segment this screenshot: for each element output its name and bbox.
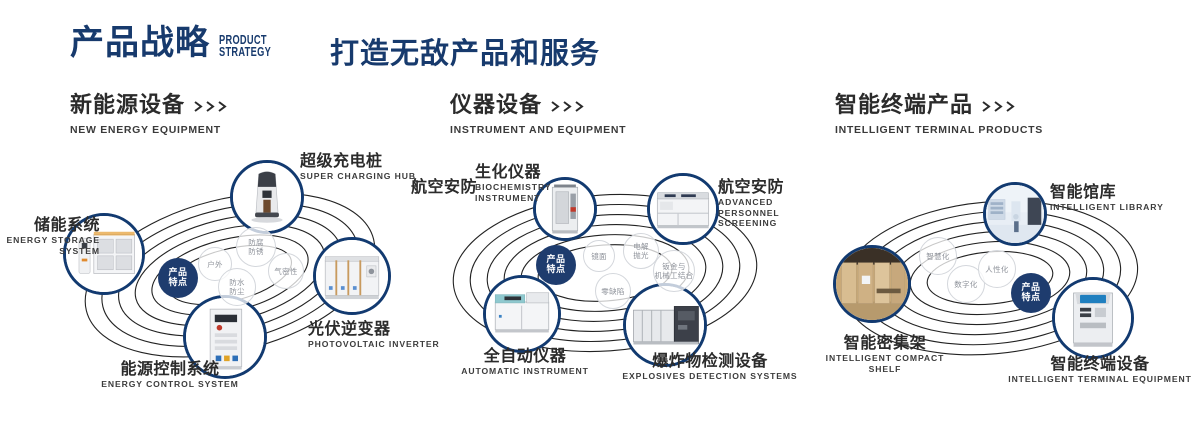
feature-badge[interactable]: 产品 特点 — [158, 258, 198, 298]
section-header-intelligent-terminal: 智能终端产品 INTELLIGENT TERMINAL PRODUCTS — [835, 95, 1043, 136]
caption-intelligent-terminal-equipment: 智能终端设备 INTELLIGENT TERMINAL EQUIPMENT — [1000, 355, 1200, 385]
caption-automatic-instrument: 全自动仪器 AUTOMATIC INSTRUMENT — [430, 347, 620, 377]
caption-aviation-security-left: 航空安防 — [411, 178, 477, 196]
caption-cn: 智能终端设备 — [1000, 355, 1200, 373]
caption-en: INTELLIGENT LIBRARY — [1050, 202, 1164, 213]
section-title-en: NEW ENERGY EQUIPMENT — [70, 124, 229, 136]
feature-badge-line2: 特点 — [546, 265, 565, 275]
self-service-terminal-image — [1055, 280, 1131, 356]
caption-biochemistry-instrument: 生化仪器 BIOCHEMISTRY INSTRUMENT — [475, 163, 541, 203]
bubble-line1: 钣金与 — [662, 262, 685, 271]
feature-badge-line1: 产品 — [1021, 283, 1040, 293]
bubble-line2: 抛光 — [633, 251, 649, 260]
page-title-cn: 产品战略 — [70, 26, 210, 60]
inverter-cabinet-image — [316, 240, 388, 312]
caption-en: INTELLIGENT TERMINAL EQUIPMENT — [1000, 374, 1200, 385]
feature-bubble-humanized: 人性化 — [978, 250, 1016, 288]
caption-energy-control-system: 能源控制系统 ENERGY CONTROL SYSTEM — [60, 360, 280, 390]
feature-bubble-intelligent: 智慧化 — [919, 237, 957, 275]
feature-bubble-air-tightness: 气密性 — [268, 253, 304, 289]
caption-en: PHOTOVOLTAIC INVERTER — [308, 339, 440, 350]
automatic-analyzer-image — [486, 278, 558, 350]
bubble-line2: 机械工结合 — [655, 271, 694, 280]
caption-en: BIOCHEMISTRY INSTRUMENT — [475, 182, 537, 203]
node-intelligent-library[interactable] — [983, 182, 1047, 246]
poster-canvas: 产品战略 PRODUCT STRATEGY 打造无敌产品和服务 新能源设备 NE… — [0, 0, 1200, 422]
caption-cn: 智能馆库 — [1050, 183, 1164, 201]
caption-en: ADVANCED PERSONNEL SCREENING — [718, 197, 814, 229]
section-header-instrument: 仪器设备 INSTRUMENT AND EQUIPMENT — [450, 95, 626, 136]
page-subtitle: 打造无敌产品和服务 — [330, 30, 600, 72]
bubble-line1: 防水 — [229, 278, 245, 287]
chevrons-right-icon — [982, 101, 1017, 112]
node-intelligent-terminal-equipment[interactable] — [1052, 277, 1134, 359]
page-title-en: PRODUCT STRATEGY — [219, 35, 271, 58]
caption-cn: 爆炸物检测设备 — [600, 352, 820, 370]
bubble-line1: 智慧化 — [926, 252, 949, 261]
bubble-line1: 数字化 — [954, 280, 977, 289]
feature-badge-line2: 特点 — [1021, 293, 1040, 303]
caption-explosives-detection-systems: 爆炸物检测设备 EXPLOSIVES DETECTION SYSTEMS — [600, 352, 820, 382]
caption-en: ENERGY CONTROL SYSTEM — [60, 379, 280, 390]
section-title-cn: 智能终端产品 — [835, 95, 973, 117]
library-interior-image — [986, 185, 1044, 243]
section-title-cn: 新能源设备 — [70, 95, 185, 117]
bubble-line1: 人性化 — [985, 265, 1008, 274]
caption-super-charging-hub: 超级充电桩 SUPER CHARGING HUB — [300, 152, 416, 182]
chevrons-right-icon — [194, 101, 229, 112]
feature-badge-line1: 产品 — [168, 268, 187, 278]
feature-bubble-mirror-finish: 镜面 — [583, 240, 615, 272]
caption-en: INTELLIGENT COMPACT SHELF — [795, 353, 975, 374]
section-title-en: INSTRUMENT AND EQUIPMENT — [450, 124, 626, 136]
bubble-line1: 镜面 — [591, 252, 607, 261]
section-header-new-energy: 新能源设备 NEW ENERGY EQUIPMENT — [70, 95, 229, 136]
feature-badge[interactable]: 产品 特点 — [1011, 273, 1051, 313]
caption-energy-storage-system: 储能系统 ENERGY STORAGE SYSTEM — [0, 216, 100, 256]
node-intelligent-compact-shelf[interactable] — [833, 245, 911, 323]
bubble-line1: 防腐 — [248, 238, 264, 247]
feature-bubble-zero-defect: 零缺陷 — [595, 273, 631, 309]
caption-photovoltaic-inverter: 光伏逆变器 PHOTOVOLTAIC INVERTER — [308, 320, 440, 350]
feature-badge-line2: 特点 — [168, 278, 187, 288]
node-super-charging-hub[interactable] — [230, 160, 304, 234]
caption-cn: 超级充电桩 — [300, 152, 416, 170]
caption-intelligent-compact-shelf: 智能密集架 INTELLIGENT COMPACT SHELF — [795, 334, 975, 374]
cluster-new-energy: 产品 特点 户外 防腐 防锈 防水 防尘 气密性 — [55, 155, 405, 385]
caption-intelligent-library: 智能馆库 INTELLIGENT LIBRARY — [1050, 183, 1164, 213]
feature-bubble-waterproof-dustproof: 防水 防尘 — [218, 268, 256, 306]
section-title-cn: 仪器设备 — [450, 95, 542, 117]
node-photovoltaic-inverter[interactable] — [313, 237, 391, 315]
page-title: 产品战略 PRODUCT STRATEGY — [70, 26, 289, 60]
page-title-en-line2: STRATEGY — [219, 47, 271, 59]
chevrons-right-icon — [551, 101, 586, 112]
compact-shelf-image — [836, 248, 908, 320]
caption-en: EXPLOSIVES DETECTION SYSTEMS — [600, 371, 820, 382]
caption-en: ENERGY STORAGE SYSTEM — [0, 235, 100, 256]
feature-bubble-sheet-metal-machining: 钣金与 机械工结合 — [653, 250, 695, 292]
bubble-line2: 防尘 — [229, 287, 245, 296]
caption-en: SUPER CHARGING HUB — [300, 171, 416, 182]
feature-badge-line1: 产品 — [546, 255, 565, 265]
caption-cn: 能源控制系统 — [60, 360, 280, 378]
feature-badge[interactable]: 产品 特点 — [536, 245, 576, 285]
section-title-en: INTELLIGENT TERMINAL PRODUCTS — [835, 124, 1043, 136]
bubble-line1: 户外 — [207, 260, 223, 269]
caption-cn: 航空安防 — [718, 178, 814, 196]
charging-pile-image — [233, 163, 301, 231]
screening-machine-image — [650, 176, 716, 242]
bubble-line1: 电解 — [633, 242, 649, 251]
caption-cn: 全自动仪器 — [430, 347, 620, 365]
caption-cn: 航空安防 — [411, 178, 477, 196]
bubble-line1: 气密性 — [274, 267, 297, 276]
node-advanced-personnel-screening[interactable] — [647, 173, 719, 245]
caption-advanced-personnel-screening: 航空安防 ADVANCED PERSONNEL SCREENING — [718, 178, 814, 229]
caption-cn: 生化仪器 — [475, 163, 541, 181]
bubble-line2: 防锈 — [248, 247, 264, 256]
node-automatic-instrument[interactable] — [483, 275, 561, 353]
bubble-line1: 零缺陷 — [601, 287, 624, 296]
caption-cn: 智能密集架 — [795, 334, 975, 352]
caption-en: AUTOMATIC INSTRUMENT — [430, 366, 620, 377]
caption-cn: 光伏逆变器 — [308, 320, 440, 338]
caption-cn: 储能系统 — [0, 216, 100, 234]
